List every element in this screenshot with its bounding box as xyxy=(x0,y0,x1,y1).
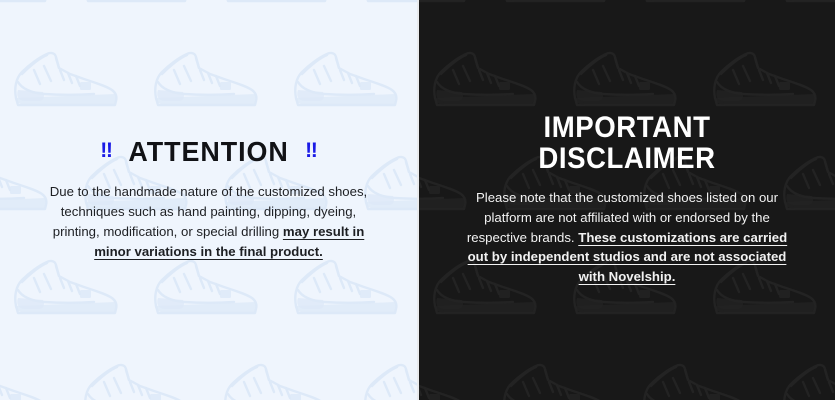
sneaker-icon xyxy=(150,252,290,328)
attention-content: ‼ ATTENTION ‼ Due to the handmade nature… xyxy=(0,138,417,262)
disclaimer-title-line1: IMPORTANT xyxy=(467,113,787,144)
sneaker-icon xyxy=(80,0,220,16)
sneaker-icon xyxy=(499,0,639,16)
sneaker-icon xyxy=(150,44,290,120)
sneaker-icon xyxy=(0,356,80,400)
sneaker-icon xyxy=(419,356,499,400)
sneaker-icon xyxy=(709,44,835,120)
sneaker-icon xyxy=(220,0,360,16)
disclaimer-content: IMPORTANT DISCLAIMER Please note that th… xyxy=(419,113,835,287)
sneaker-icon xyxy=(290,252,417,328)
sneaker-icon xyxy=(0,44,10,120)
disclaimer-title: IMPORTANT DISCLAIMER xyxy=(467,113,787,174)
panel-divider xyxy=(417,0,419,400)
sneaker-icon xyxy=(10,252,150,328)
sneaker-icon xyxy=(499,356,639,400)
attention-body: Due to the handmade nature of the custom… xyxy=(49,182,369,262)
disclaimer-panel: IMPORTANT DISCLAIMER Please note that th… xyxy=(419,0,835,400)
sneaker-icon xyxy=(360,0,417,16)
double-exclamation-icon-right: ‼ xyxy=(305,140,317,161)
attention-heading-row: ‼ ATTENTION ‼ xyxy=(34,138,383,166)
sneaker-icon xyxy=(220,356,360,400)
attention-title: ATTENTION xyxy=(128,138,288,166)
sneaker-icon xyxy=(0,0,80,16)
sneaker-icon xyxy=(569,44,709,120)
attention-panel: ‼ ATTENTION ‼ Due to the handmade nature… xyxy=(0,0,417,400)
sneaker-icon xyxy=(639,356,779,400)
sneaker-icon xyxy=(419,0,499,16)
disclaimer-banner: ‼ ATTENTION ‼ Due to the handmade nature… xyxy=(0,0,835,400)
sneaker-icon xyxy=(0,252,10,328)
sneaker-icon xyxy=(779,0,835,16)
sneaker-icon xyxy=(779,356,835,400)
sneaker-icon xyxy=(419,44,429,120)
sneaker-icon xyxy=(639,0,779,16)
sneaker-icon xyxy=(80,356,220,400)
disclaimer-title-line2: DISCLAIMER xyxy=(467,144,787,175)
disclaimer-body: Please note that the customized shoes li… xyxy=(462,188,792,287)
double-exclamation-icon-left: ‼ xyxy=(100,140,112,161)
sneaker-icon xyxy=(10,44,150,120)
sneaker-icon xyxy=(360,356,417,400)
sneaker-icon xyxy=(429,44,569,120)
sneaker-icon xyxy=(290,44,417,120)
